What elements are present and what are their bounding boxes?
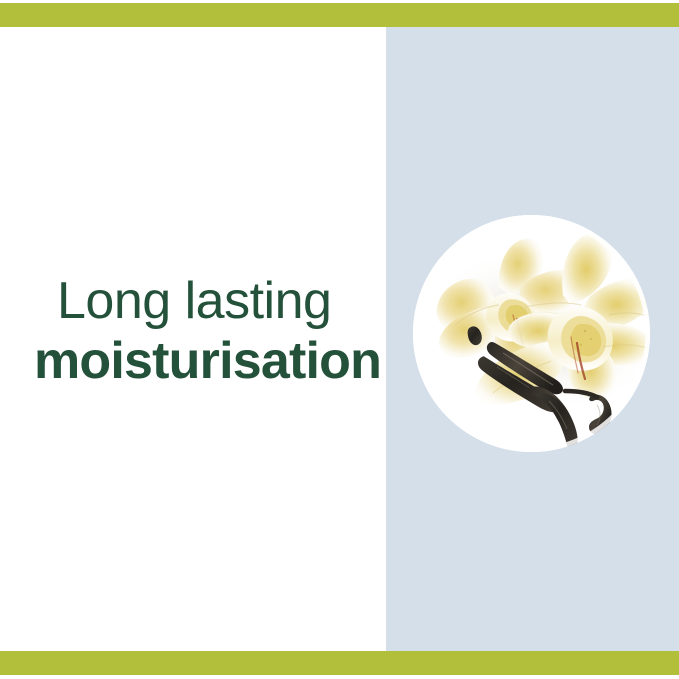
bottom-accent-bar [0, 651, 679, 675]
vanilla-flower-photo [413, 215, 650, 452]
top-accent-bar [0, 3, 679, 27]
headline-line-2: moisturisation [34, 330, 384, 392]
vanilla-illustration [413, 215, 650, 452]
headline-line-1: Long lasting [34, 272, 384, 330]
headline: Long lasting moisturisation [34, 272, 384, 392]
product-banner: Long lasting moisturisation [0, 0, 679, 679]
